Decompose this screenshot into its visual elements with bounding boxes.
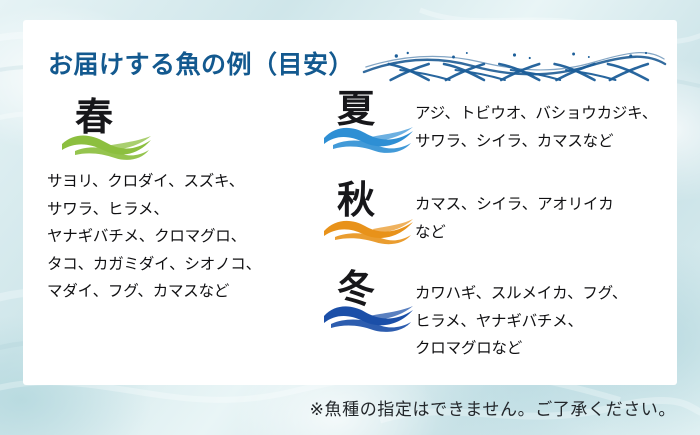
content-card: お届けする魚の例（目安） — [23, 20, 677, 385]
fish-list-line: サヨリ、クロダイ、スズキ、 — [47, 168, 325, 196]
season-block-winter: 冬 カワハギ、スルメイカ、フグ、 ヒラメ、ヤナギバチメ、 — [323, 272, 668, 363]
fish-list-line: カワハギ、スルメイカ、フグ、 — [415, 280, 627, 308]
fish-list-line: マダイ、フグ、カマスなど — [47, 278, 325, 306]
fish-list-summer: アジ、トビウオ、バショウカジキ、 サワラ、シイラ、カマスなど — [415, 92, 657, 155]
seasonal-fish-poster: お届けする魚の例（目安） — [0, 0, 700, 435]
fish-list-line: サワラ、ヒラメ、 — [47, 196, 325, 224]
title-row: お届けする魚の例（目安） — [48, 38, 667, 88]
page-title: お届けする魚の例（目安） — [48, 45, 354, 81]
season-kanji-autumn: 秋 — [337, 181, 375, 219]
wave-brush-divider-icon — [362, 44, 667, 86]
season-block-autumn: 秋 カマス、シイラ、アオリイカ など — [323, 183, 668, 246]
season-kanji-summer: 夏 — [337, 90, 375, 128]
season-block-spring: 春 サヨリ、クロダイ、スズキ、 サワラ、ヒラメ、 — [45, 100, 325, 306]
season-block-summer: 夏 アジ、トビウオ、バショウカジキ、 サワラ、シイラ、カマスなど — [323, 92, 668, 155]
footer-note: ※魚種の指定はできません。ご了承ください。 — [310, 395, 676, 420]
fish-list-line: カマス、シイラ、アオリイカ — [415, 191, 614, 219]
fish-list-spring: サヨリ、クロダイ、スズキ、 サワラ、ヒラメ、 ヤナギバチメ、クロマグロ、 タコ、… — [47, 168, 325, 306]
season-column-left: 春 サヨリ、クロダイ、スズキ、 サワラ、ヒラメ、 — [45, 100, 325, 306]
fish-list-line: など — [415, 219, 614, 247]
season-mark-summer: 夏 — [323, 92, 415, 154]
season-mark-autumn: 秋 — [323, 183, 415, 245]
season-kanji-winter: 冬 — [337, 270, 375, 308]
fish-list-line: サワラ、シイラ、カマスなど — [415, 128, 657, 156]
season-mark-spring: 春 — [61, 100, 153, 162]
fish-list-autumn: カマス、シイラ、アオリイカ など — [415, 183, 614, 246]
fish-list-line: タコ、カガミダイ、シオノコ、 — [47, 251, 325, 279]
fish-list-line: アジ、トビウオ、バショウカジキ、 — [415, 100, 657, 128]
season-mark-winter: 冬 — [323, 272, 415, 334]
fish-list-line: ヤナギバチメ、クロマグロ、 — [47, 223, 325, 251]
season-column-right: 夏 アジ、トビウオ、バショウカジキ、 サワラ、シイラ、カマスなど — [323, 92, 668, 363]
fish-list-line: ヒラメ、ヤナギバチメ、 — [415, 308, 627, 336]
fish-list-line: クロマグロなど — [415, 335, 627, 363]
fish-list-winter: カワハギ、スルメイカ、フグ、 ヒラメ、ヤナギバチメ、 クロマグロなど — [415, 272, 627, 363]
season-kanji-spring: 春 — [75, 98, 113, 136]
